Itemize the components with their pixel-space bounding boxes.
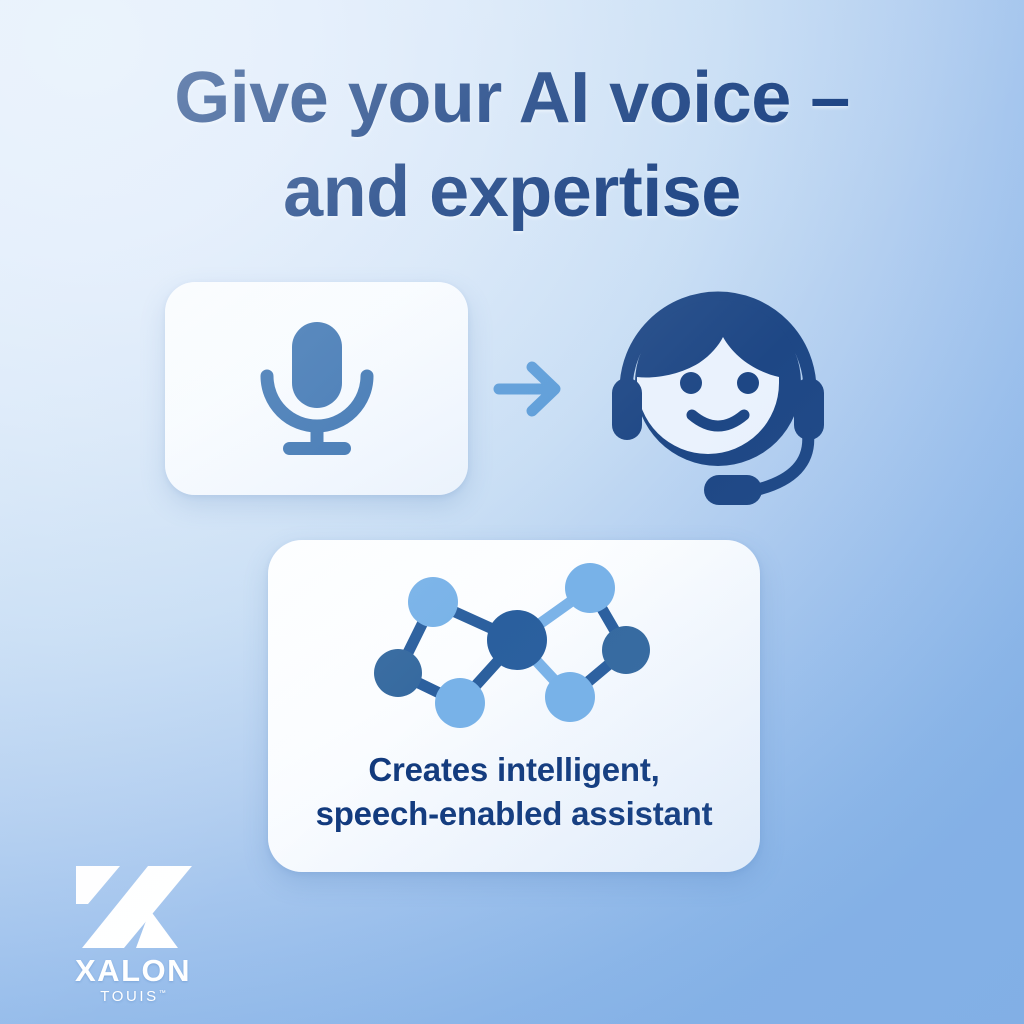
caption-line-2: speech-enabled assistant xyxy=(268,792,760,836)
page-title: Give your AI voice – and expertise xyxy=(0,52,1024,239)
logo-subtext-label: TOUIS xyxy=(100,988,159,1005)
node-bottom-right xyxy=(545,672,595,722)
node-top-left xyxy=(408,577,458,627)
assistant-card-caption: Creates intelligent, speech-enabled assi… xyxy=(268,748,760,836)
node-bottom-left xyxy=(435,678,485,728)
earcup-left xyxy=(612,378,642,440)
brand-logo[interactable]: XALON TOUIS™ xyxy=(58,866,208,1006)
poster-canvas: Give your AI voice – and expertise xyxy=(0,0,1024,1024)
avatar-eye-right xyxy=(737,372,759,394)
headset-agent-icon xyxy=(596,270,840,508)
node-top-right xyxy=(565,563,615,613)
arrow-right-icon xyxy=(492,356,566,422)
node-left xyxy=(374,649,422,697)
headline-line-2: and expertise xyxy=(0,146,1024,240)
microphone-icon xyxy=(253,320,381,460)
logo-subtext: TOUIS™ xyxy=(58,989,208,1006)
avatar-eye-left xyxy=(680,372,702,394)
logo-wordmark: XALON xyxy=(58,955,208,988)
node-center-hub xyxy=(487,610,547,670)
x-logo-mark xyxy=(74,866,192,948)
logo-trademark: ™ xyxy=(159,990,166,997)
caption-line-1: Creates intelligent, xyxy=(268,748,760,792)
node-right xyxy=(602,626,650,674)
boom-mouthpiece xyxy=(704,475,762,505)
headline-line-1: Give your AI voice – xyxy=(0,52,1024,146)
network-nodes-icon xyxy=(360,556,660,732)
